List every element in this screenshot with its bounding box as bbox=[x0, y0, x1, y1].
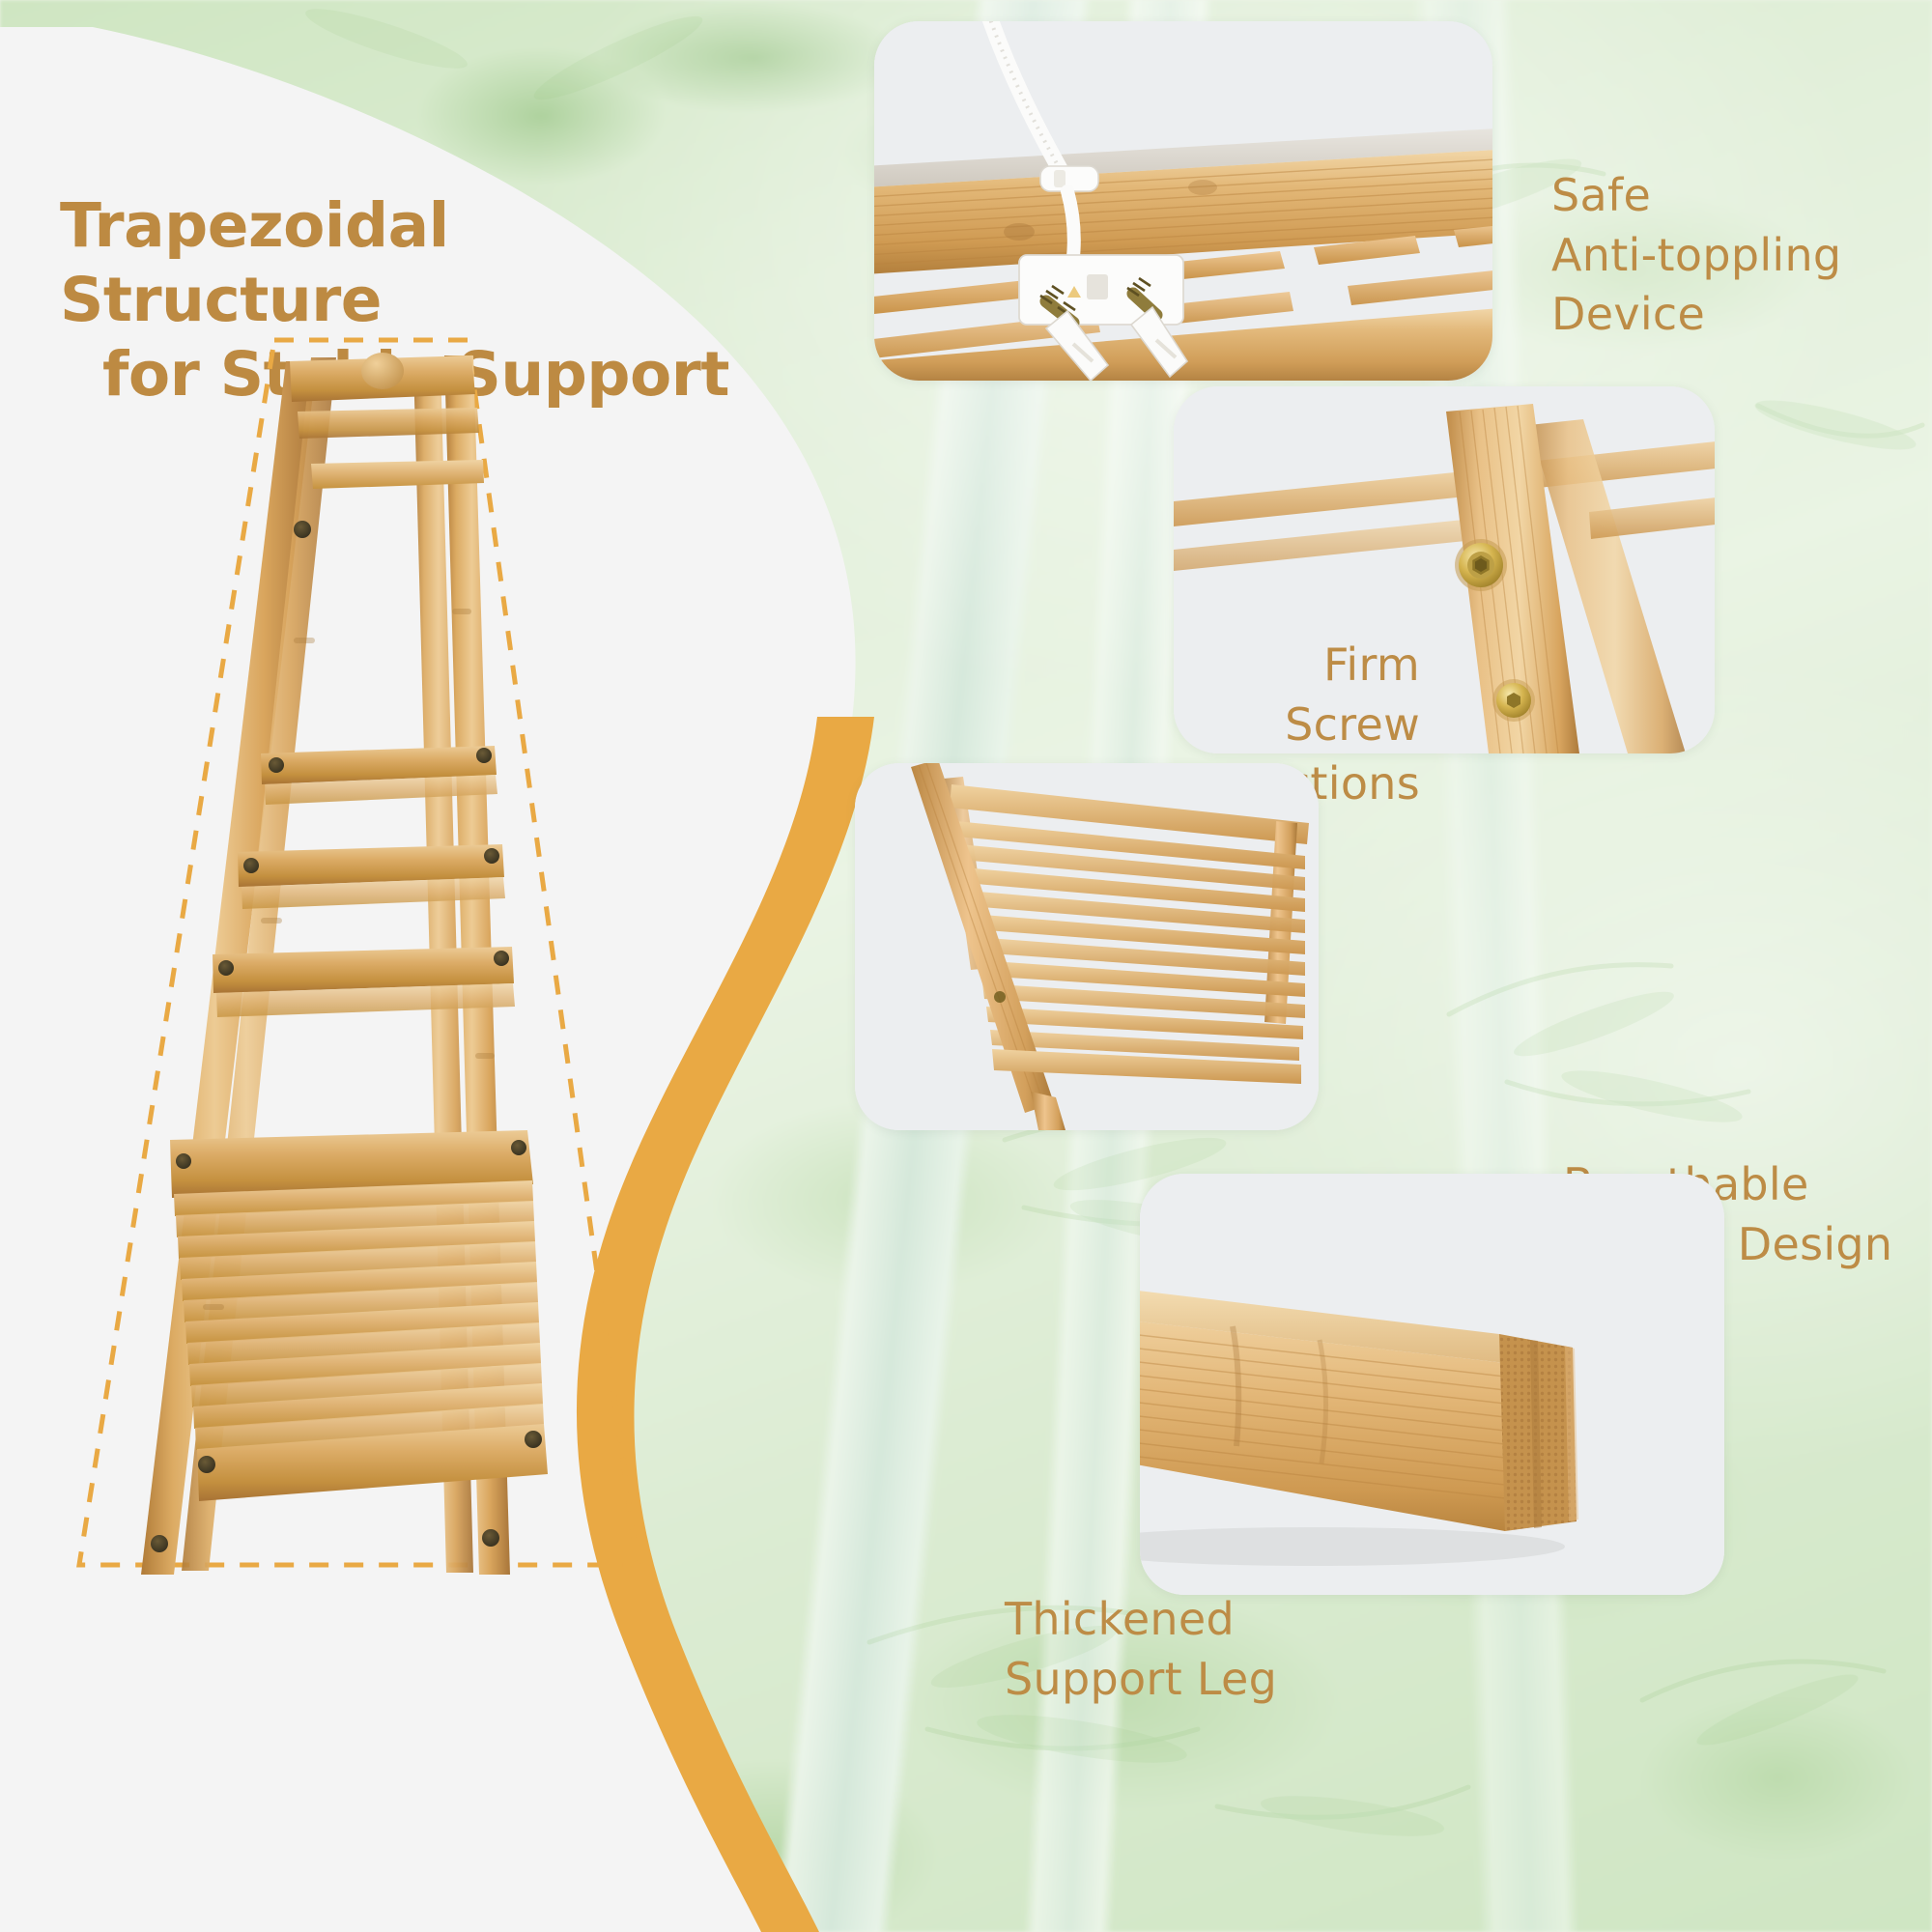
feature-card-support-leg bbox=[1140, 1174, 1724, 1595]
feature-card-anti-toppling bbox=[874, 21, 1492, 381]
thickened-support-leg-photo bbox=[1140, 1174, 1724, 1595]
slatted-shelf-photo bbox=[855, 763, 1319, 1130]
title-line-1: Trapezoidal Structure bbox=[60, 190, 449, 335]
feature-caption-anti-toppling: Safe Anti-toppling Device bbox=[1551, 166, 1930, 345]
feature-card-slatted-design bbox=[855, 763, 1319, 1130]
feature-caption-support-leg: Thickened Support Leg bbox=[1005, 1590, 1410, 1709]
trapezoid-outline-annotation bbox=[58, 319, 792, 1594]
main-product-image bbox=[58, 319, 792, 1594]
anti-toppling-device-photo bbox=[874, 21, 1492, 381]
